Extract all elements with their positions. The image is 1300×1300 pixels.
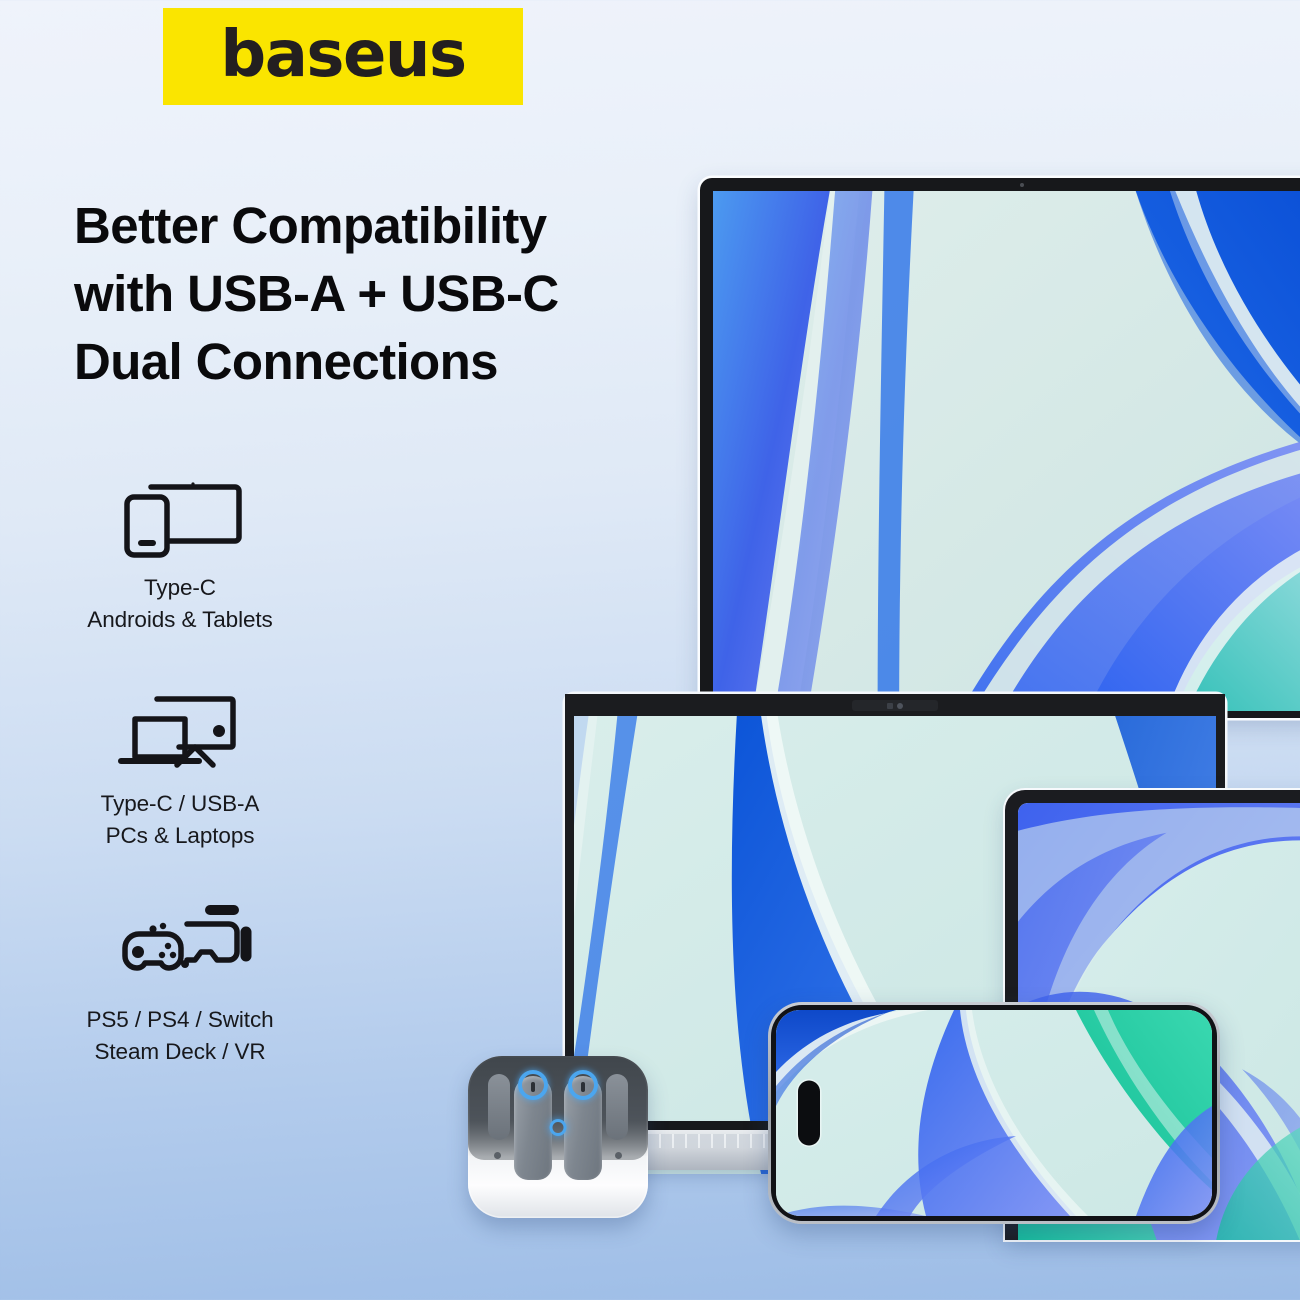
feature-caption-line-2: Androids & Tablets [30, 604, 330, 636]
feature-caption: Type-C / USB-A PCs & Laptops [30, 782, 330, 852]
earbuds-case-led-indicator [550, 1119, 567, 1136]
feature-item-consoles-vr: PS5 / PS4 / Switch Steam Deck / VR [30, 894, 330, 1110]
laptop-webcam-notch [852, 700, 938, 711]
brand-logo: baseus [163, 8, 523, 105]
feature-caption-line-1: PS5 / PS4 / Switch [30, 1004, 330, 1036]
device-phone [768, 1002, 1220, 1224]
feature-caption-line-1: Type-C [30, 572, 330, 604]
earbuds-case-cradle-left [488, 1074, 510, 1140]
feature-caption: Type-C Androids & Tablets [30, 566, 330, 636]
monitor-wallpaper [713, 191, 1300, 711]
earbud-left-mic [531, 1082, 535, 1092]
phone-wallpaper [776, 1010, 1212, 1216]
feature-item-androids-tablets: Type-C Androids & Tablets [30, 462, 330, 678]
headline-line-2: with USB-A + USB-C [74, 260, 694, 328]
feature-caption-line-2: Steam Deck / VR [30, 1036, 330, 1068]
banner-canvas: baseus Better Compatibility with USB-A +… [0, 0, 1300, 1300]
phone-screen [776, 1010, 1212, 1216]
feature-caption: PS5 / PS4 / Switch Steam Deck / VR [30, 998, 330, 1068]
phone-tablet-icon [30, 462, 330, 566]
webcam-sensor-icon [887, 703, 893, 709]
feature-caption-line-1: Type-C / USB-A [30, 788, 330, 820]
earbud-right-mic [581, 1082, 585, 1092]
webcam-lens-icon [897, 703, 903, 709]
headline-line-3: Dual Connections [74, 328, 694, 396]
monitor-screen [713, 191, 1300, 711]
device-earbuds-case [468, 1056, 648, 1218]
laptop-monitor-icon [30, 678, 330, 782]
headline-line-1: Better Compatibility [74, 192, 694, 260]
earbuds-case-cradle-right [606, 1074, 628, 1140]
earbuds-case-pin-right [615, 1152, 622, 1159]
compatibility-feature-list: Type-C Androids & Tablets Type-C / USB-A… [30, 462, 330, 1110]
monitor-camera-dot [1020, 183, 1024, 187]
earbuds-case-pin-left [494, 1152, 501, 1159]
phone-dynamic-island [798, 1081, 820, 1146]
device-monitor [700, 178, 1300, 718]
brand-logo-text: baseus [220, 23, 465, 87]
feature-caption-line-2: PCs & Laptops [30, 820, 330, 852]
feature-item-pcs-laptops: Type-C / USB-A PCs & Laptops [30, 678, 330, 894]
page-title: Better Compatibility with USB-A + USB-C … [74, 192, 694, 395]
gamepad-vr-icon [30, 894, 330, 998]
laptop-top-bezel [565, 694, 1225, 716]
